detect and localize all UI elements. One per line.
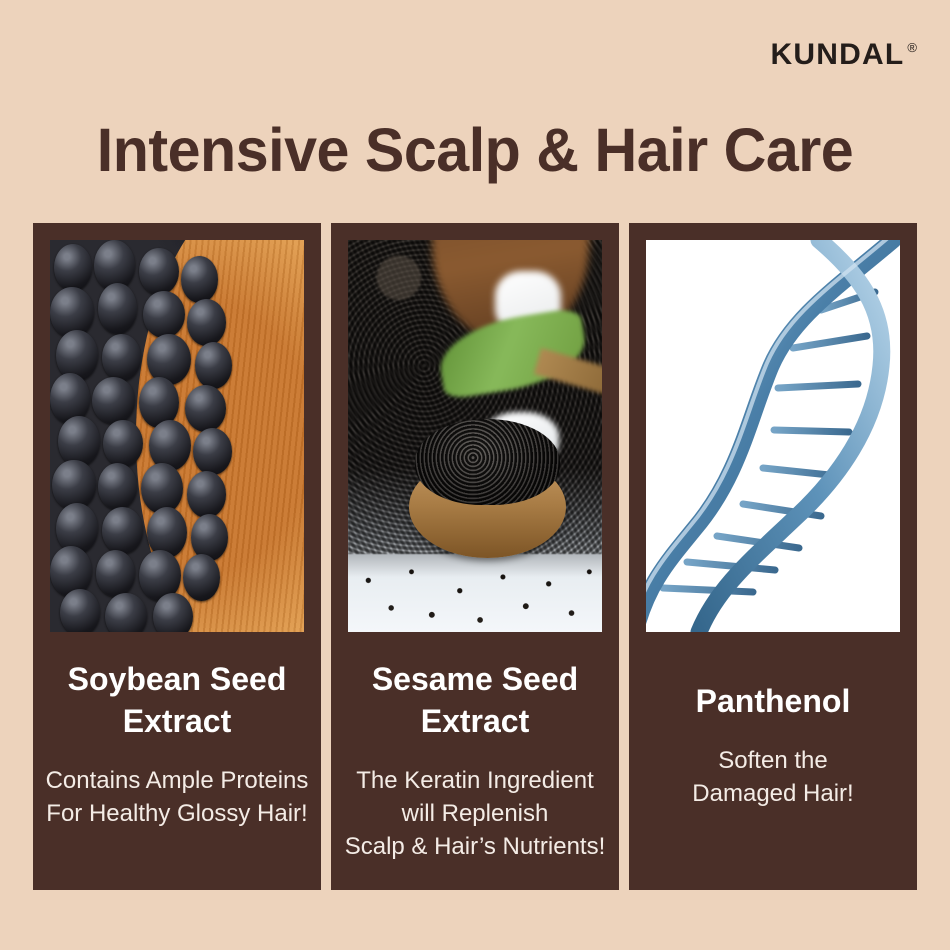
ingredient-title: Sesame Seed Extract [362,658,588,742]
sesame-photo-image [348,240,602,632]
ingredient-description: Soften the Damaged Hair! [684,744,861,810]
ingredient-card-sesame: Sesame Seed Extract The Keratin Ingredie… [331,223,619,890]
page-title: Intensive Scalp & Hair Care [14,113,936,187]
ingredient-card-panthenol: Panthenol Soften the Damaged Hair! [629,223,917,890]
dna-helix-icon [646,240,900,632]
ingredient-card-list: Soybean Seed Extract Contains Ample Prot… [33,223,917,890]
ingredient-card-soybean: Soybean Seed Extract Contains Ample Prot… [33,223,321,890]
soybean-cluster [50,240,248,632]
ingredient-description: The Keratin Ingredient will Replenish Sc… [337,764,614,863]
soybean-photo [50,240,304,632]
brand-logo: KUNDAL ® [771,40,917,70]
scattered-seeds [348,546,602,632]
brand-name: KUNDAL [771,40,905,70]
wooden-spoon [409,456,566,558]
dna-photo [646,240,900,632]
seed-heap [415,419,560,505]
soybean-photo-image [50,240,304,632]
registered-trademark-icon: ® [907,41,917,54]
ingredient-title: Soybean Seed Extract [58,658,297,742]
infographic-page: KUNDAL ® Intensive Scalp & Hair Care [0,0,950,950]
sesame-photo [348,240,602,632]
ingredient-title: Panthenol [686,680,861,722]
ingredient-description: Contains Ample Proteins For Healthy Glos… [38,764,317,830]
